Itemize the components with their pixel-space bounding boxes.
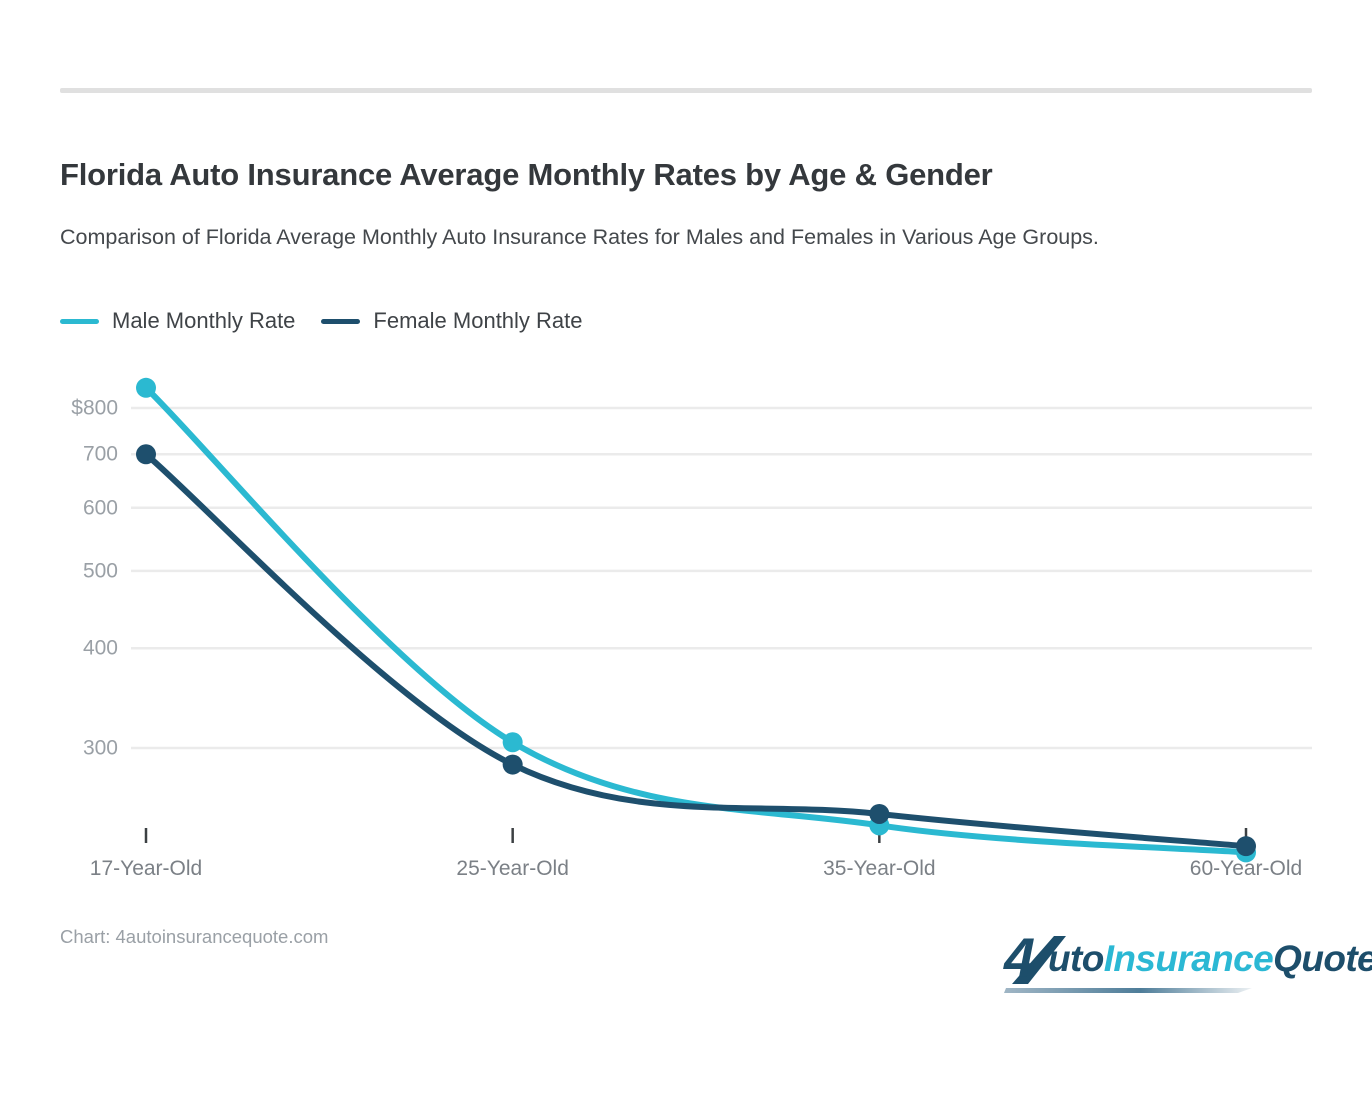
data-point-male[interactable] xyxy=(869,815,889,835)
page-title: Florida Auto Insurance Average Monthly R… xyxy=(60,155,1320,195)
legend-swatch-male-icon xyxy=(60,319,99,324)
series-line-male xyxy=(146,388,1246,853)
legend-item-female[interactable]: Female Monthly Rate xyxy=(321,308,582,334)
data-point-female[interactable] xyxy=(503,755,523,775)
data-point-female[interactable] xyxy=(1236,836,1256,856)
legend-label-male: Male Monthly Rate xyxy=(112,308,295,334)
chart-series-lines xyxy=(146,388,1246,853)
logo-wordmark: utoInsuranceQuote xyxy=(1048,936,1372,982)
logo-part-quote: Quote xyxy=(1273,938,1372,979)
data-point-male[interactable] xyxy=(503,732,523,752)
legend-label-female: Female Monthly Rate xyxy=(373,308,582,334)
series-line-female xyxy=(146,454,1246,846)
data-point-female[interactable] xyxy=(869,804,889,824)
chart-subtitle: Comparison of Florida Average Monthly Au… xyxy=(60,222,1330,252)
chart-x-ticks xyxy=(146,828,1246,843)
x-axis-tick-label: 35-Year-Old xyxy=(823,858,935,880)
y-axis-tick-label: $800 xyxy=(52,398,118,419)
legend-swatch-female-icon xyxy=(321,319,360,324)
y-axis-tick-label: 700 xyxy=(52,444,118,465)
y-axis-tick-label: 600 xyxy=(52,497,118,518)
x-axis-tick-label: 25-Year-Old xyxy=(456,858,568,880)
brand-logo[interactable]: 4 utoInsuranceQuote xyxy=(1002,932,1314,994)
x-axis-tick-label: 60-Year-Old xyxy=(1190,858,1302,880)
y-axis-tick-label: 300 xyxy=(52,738,118,759)
y-axis-tick-label: 500 xyxy=(52,560,118,581)
x-axis-tick-label: 17-Year-Old xyxy=(90,858,202,880)
chart-legend: Male Monthly Rate Female Monthly Rate xyxy=(60,308,583,334)
logo-numeral: 4 xyxy=(1004,930,1035,986)
chart-credit: Chart: 4autoinsurancequote.com xyxy=(60,925,328,949)
data-point-female[interactable] xyxy=(136,444,156,464)
logo-part-auto: uto xyxy=(1048,938,1104,979)
top-divider xyxy=(60,88,1312,93)
data-point-male[interactable] xyxy=(136,378,156,398)
legend-item-male[interactable]: Male Monthly Rate xyxy=(60,308,295,334)
logo-part-insurance: Insurance xyxy=(1104,938,1273,979)
chart-series-points xyxy=(136,378,1256,863)
chart-gridlines xyxy=(131,408,1312,748)
chart-page: Florida Auto Insurance Average Monthly R… xyxy=(0,0,1372,1104)
y-axis-tick-label: 400 xyxy=(52,638,118,659)
